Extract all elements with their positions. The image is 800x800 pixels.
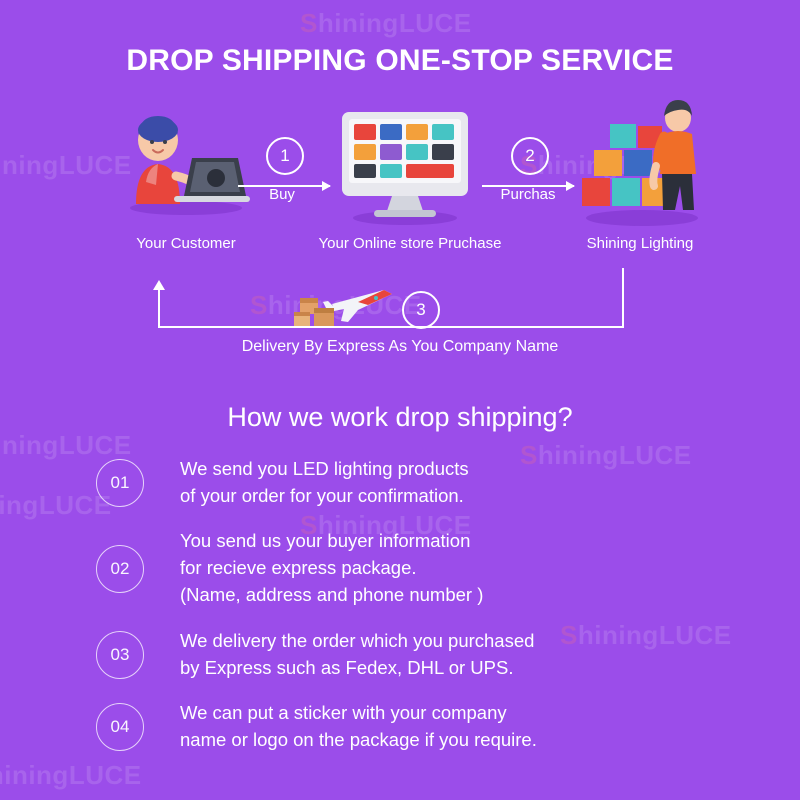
- computer-monitor-icon: [330, 106, 480, 226]
- how-we-work-list: 01 We send you LED lighting products of …: [96, 455, 756, 771]
- how-we-work-heading: How we work drop shipping?: [0, 402, 800, 433]
- step-badge-02: 02: [96, 545, 144, 593]
- watermark-rest: hiningLUCE: [0, 490, 112, 520]
- step-badge-03: 03: [96, 631, 144, 679]
- bracket-left-line: [158, 290, 160, 328]
- delivery-label: Delivery By Express As You Company Name: [0, 338, 800, 356]
- step-number-1: 1: [266, 137, 304, 175]
- step-text-04: We can put a sticker with your company n…: [180, 699, 756, 753]
- step-text-01: We send you LED lighting products of you…: [180, 455, 756, 509]
- step-badge-04: 04: [96, 703, 144, 751]
- step-number-2: 2: [511, 137, 549, 175]
- node-caption-customer: Your Customer: [76, 235, 296, 252]
- watermark-s: S: [300, 8, 318, 38]
- airplane-and-parcels-icon: [292, 278, 402, 334]
- watermark: ShiningLUCE: [300, 8, 472, 39]
- page-title: DROP SHIPPING ONE-STOP SERVICE: [0, 44, 800, 78]
- watermark-s: S: [250, 290, 268, 320]
- bracket-arrow-head: [153, 280, 165, 290]
- step-text-03: We delivery the order which you purchase…: [180, 627, 756, 681]
- step-number-3: 3: [402, 291, 440, 329]
- list-item: 02 You send us your buyer information fo…: [96, 527, 756, 617]
- worker-with-boxes-icon: [560, 96, 720, 226]
- node-caption-online-store: Your Online store Pruchase: [290, 235, 530, 252]
- watermark-rest: hiningLUCE: [318, 8, 472, 38]
- bracket-right-line: [622, 268, 624, 328]
- step-label-buy: Buy: [222, 186, 342, 203]
- step-label-purchas: Purchas: [468, 186, 588, 203]
- step-badge-01: 01: [96, 459, 144, 507]
- list-item: 03 We delivery the order which you purch…: [96, 627, 756, 689]
- node-caption-shining-lighting: Shining Lighting: [530, 235, 750, 252]
- watermark: ShiningLUCE: [0, 490, 112, 521]
- step-text-02: You send us your buyer information for r…: [180, 527, 756, 608]
- list-item: 01 We send you LED lighting products of …: [96, 455, 756, 517]
- list-item: 04 We can put a sticker with your compan…: [96, 699, 756, 761]
